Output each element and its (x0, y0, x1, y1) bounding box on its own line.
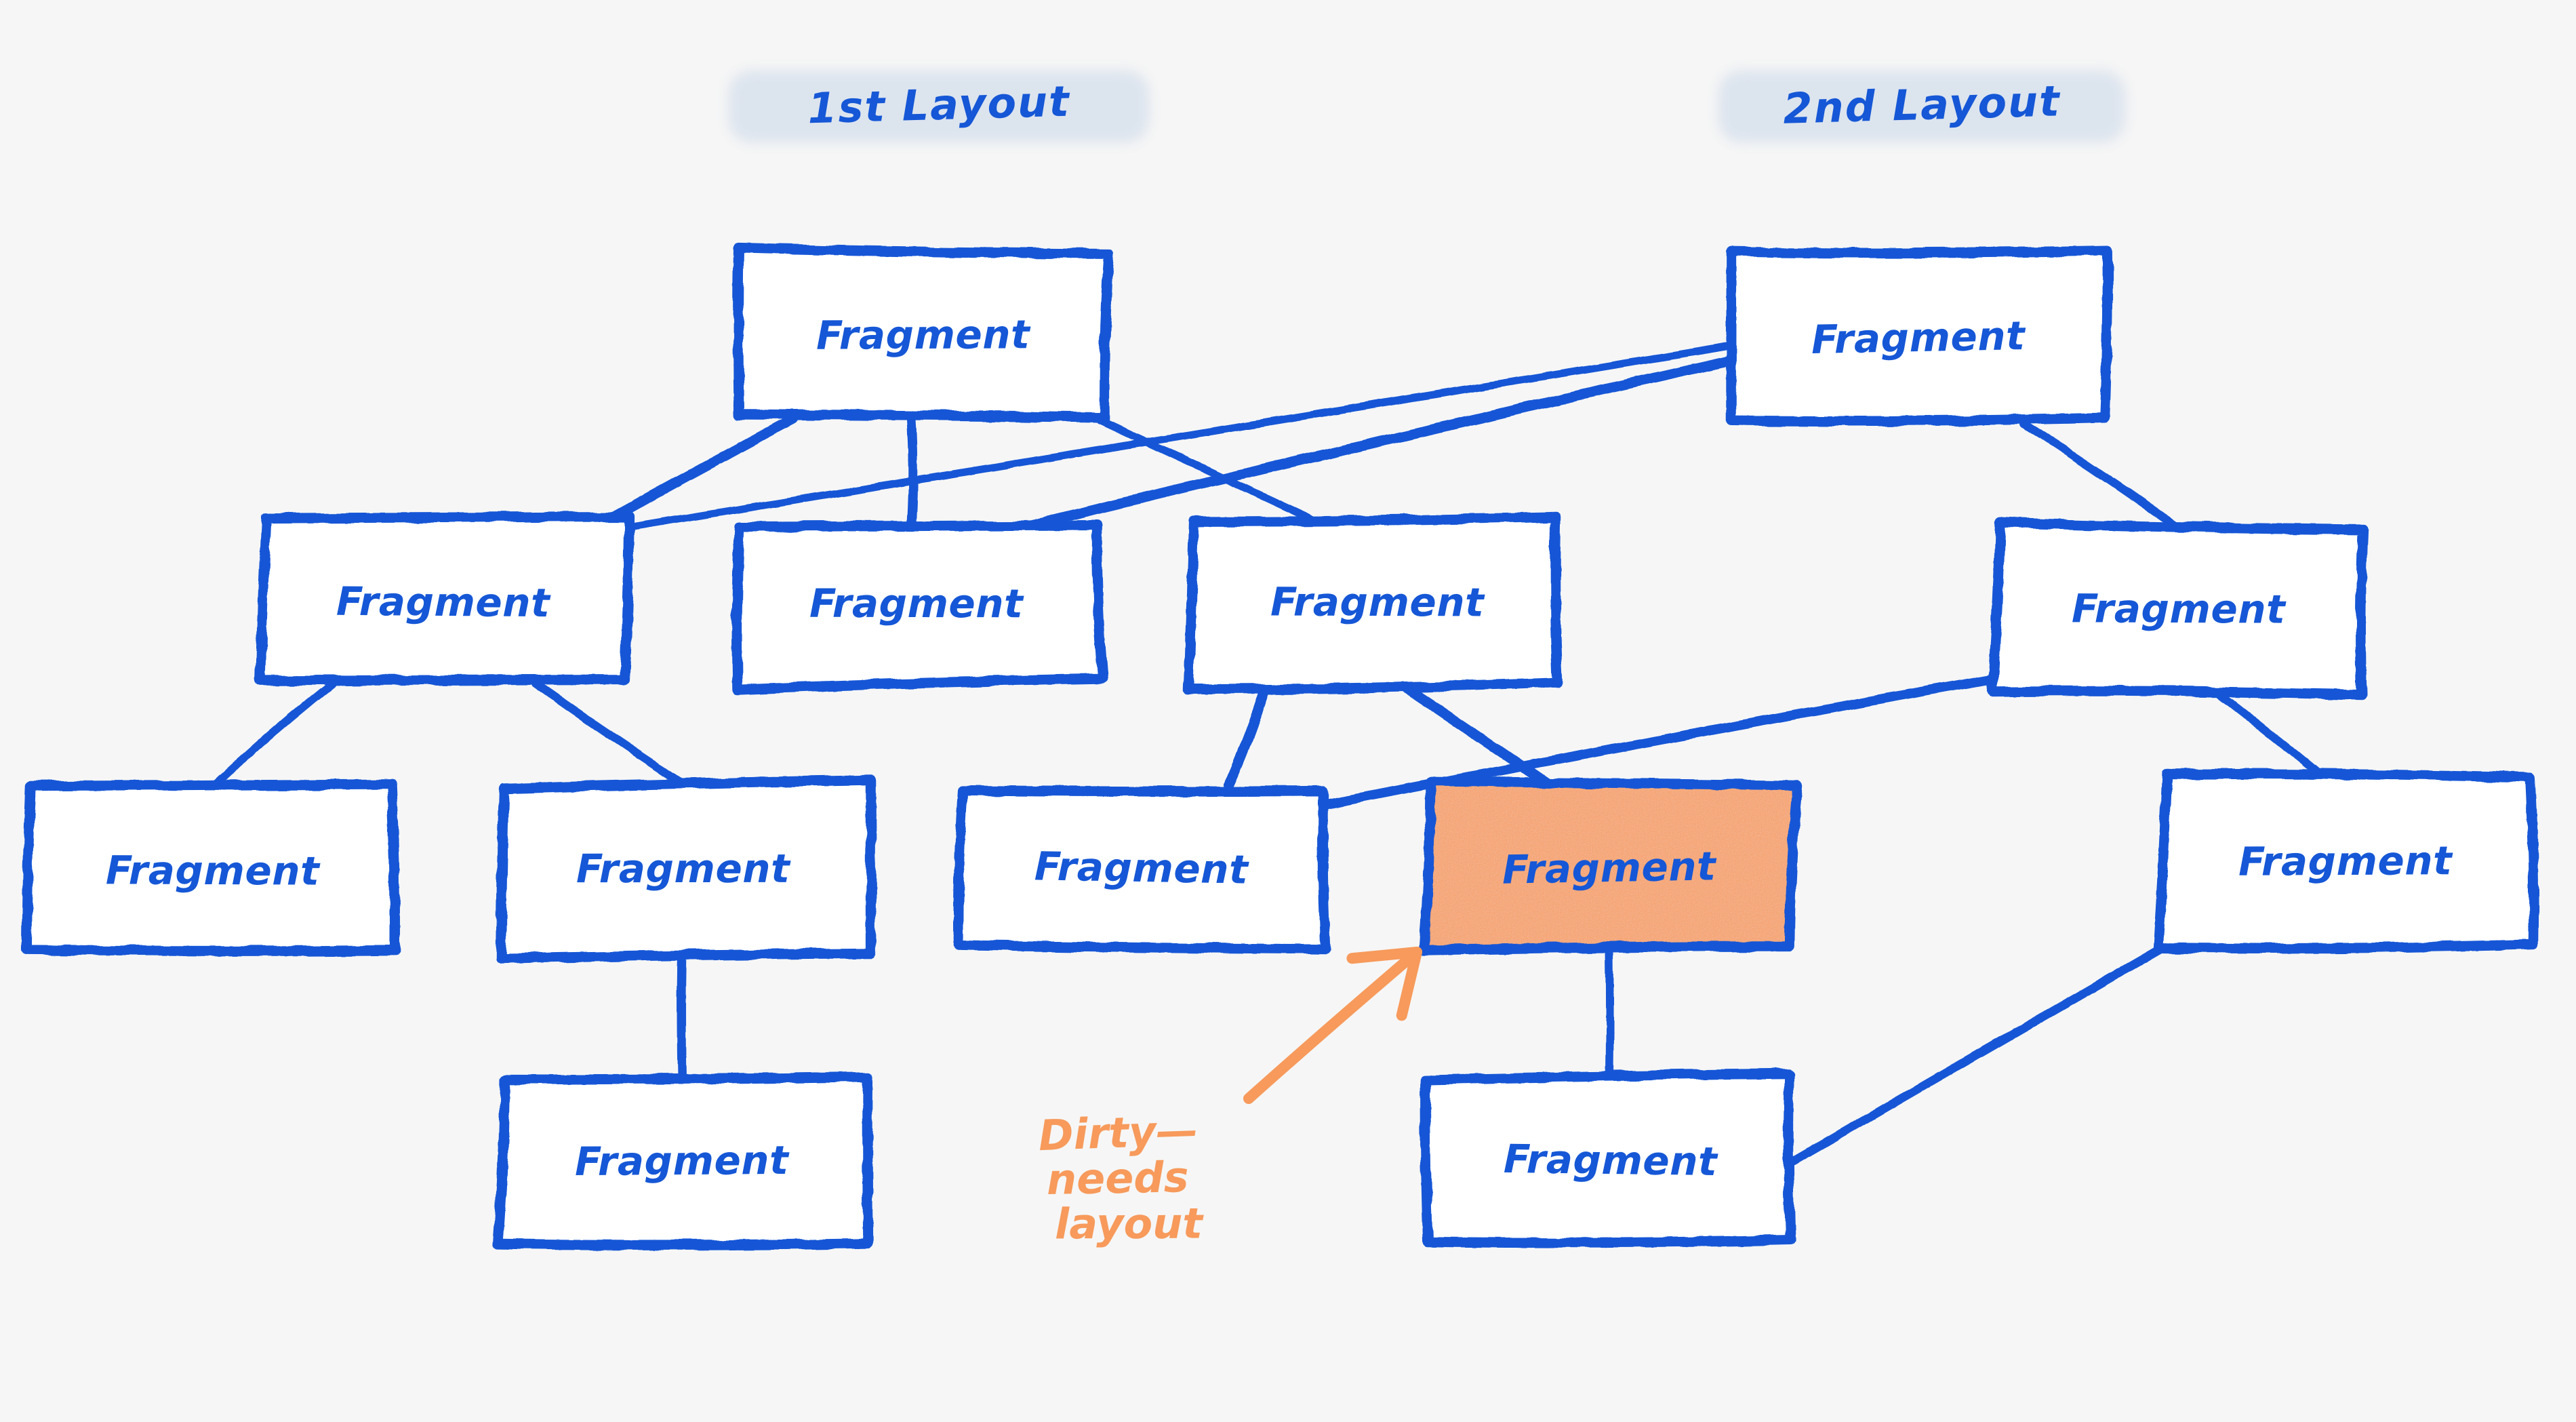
dirty-annotation-text: Dirty—needslayout (1039, 1111, 1198, 1247)
edge-connector (2214, 690, 2324, 778)
fragment-node-label: Fragment (106, 847, 320, 894)
fragment-node-label: Fragment (2238, 837, 2453, 885)
dirty-annotation-arrow (1249, 952, 1417, 1099)
fragment-node-label: Fragment (575, 1137, 789, 1185)
edge-layer (210, 344, 2324, 1161)
annotation-layer (1249, 952, 1417, 1099)
fragment-node-label-wrap[interactable]: Fragment (733, 524, 1100, 684)
fragment-node-label: Fragment (1270, 579, 1484, 626)
dirty-annotation-line: layout (1055, 1201, 1215, 1247)
fragment-node-label-wrap[interactable]: Fragment (1428, 1075, 1794, 1245)
fragment-node-label-wrap[interactable]: Fragment (1194, 519, 1561, 685)
fragment-node-label-wrap[interactable]: Fragment (1735, 252, 2101, 423)
fragment-node-label-wrap[interactable]: Fragment (2162, 778, 2529, 944)
box-layer (26, 248, 2533, 1244)
fragment-node-label-wrap[interactable]: Fragment (260, 521, 626, 684)
edge-connector (210, 684, 332, 789)
dirty-annotation-line: Dirty— (1038, 1108, 1199, 1159)
edge-connector (2023, 423, 2177, 528)
fragment-node-label: Fragment (1502, 843, 1716, 893)
edge-connector (536, 684, 683, 784)
fragment-node-label-wrap[interactable]: Fragment (959, 785, 1325, 951)
fragment-node-label: Fragment (1811, 313, 2026, 363)
edge-connector (1609, 951, 1610, 1075)
dirty-annotation-line: needs (1046, 1154, 1207, 1202)
fragment-node-label-wrap[interactable]: Fragment (500, 784, 866, 953)
fragment-node-label: Fragment (2072, 585, 2286, 632)
edge-connector (912, 419, 913, 524)
fragment-node-label: Fragment (816, 311, 1030, 358)
diagram-canvas (0, 0, 2576, 1422)
fragment-node-label-wrap[interactable]: Fragment (740, 251, 1106, 419)
fragment-node-label-wrap[interactable]: Fragment (1426, 785, 1792, 951)
fragment-node-label: Fragment (809, 580, 1023, 627)
fragment-node-label-wrap[interactable]: Fragment (1996, 528, 2362, 690)
group-title: 2nd Layout (1738, 75, 2106, 134)
fragment-node-label-wrap[interactable]: Fragment (30, 789, 396, 952)
fragment-node-label: Fragment (1034, 843, 1249, 892)
edge-connector (1228, 685, 1266, 785)
fragment-node-label: Fragment (1504, 1136, 1718, 1185)
fragment-node-label: Fragment (336, 578, 550, 626)
edge-connector (1794, 945, 2167, 1161)
edge-connector (1402, 685, 1550, 785)
edge-connector (681, 953, 682, 1077)
fragment-node-label-wrap[interactable]: Fragment (499, 1077, 865, 1245)
fragment-node-label: Fragment (576, 846, 790, 892)
